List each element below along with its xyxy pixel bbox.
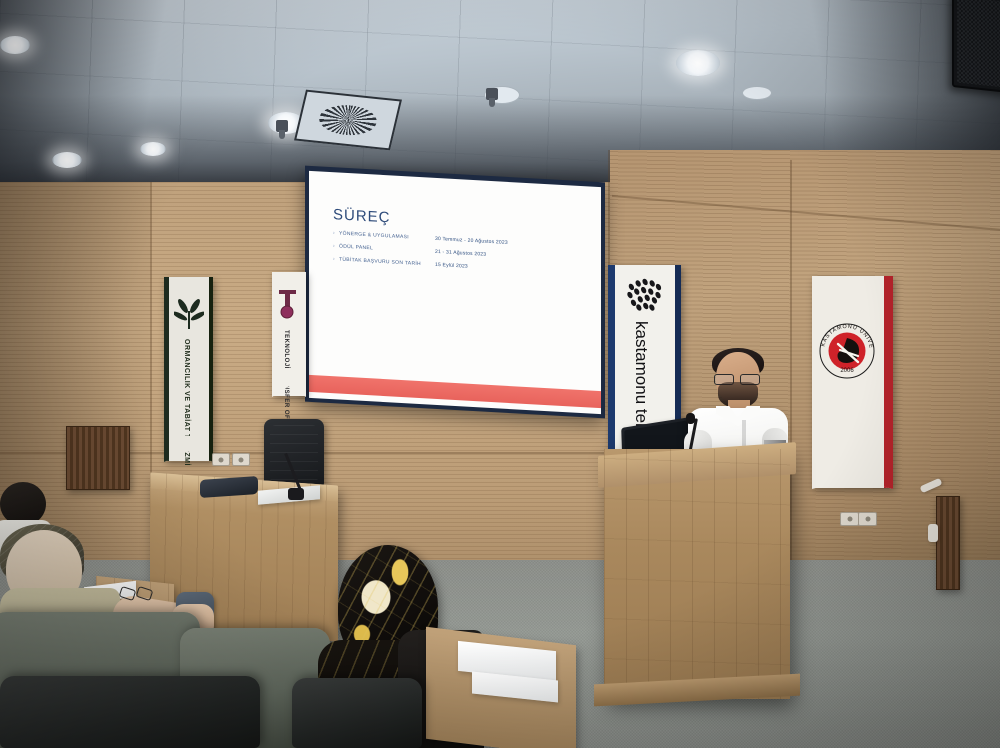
ceiling-loudspeaker: [952, 0, 1000, 93]
audience-chair[interactable]: [292, 678, 422, 748]
wall-radiator: [936, 496, 960, 590]
podium-grain: [604, 449, 790, 699]
tto-icon: [276, 286, 302, 320]
dot-cloud-icon: [623, 276, 667, 315]
slide-row-label: TÜBİTAK BAŞVURU SON TARİH: [339, 257, 435, 268]
ormancilik-banner: ORMANCILIK VE TABİAT TURİZMİ: [164, 277, 213, 461]
slide-surface: SÜREÇ › YÖNERGE & UYGULAMASI 30 Temmuz -…: [309, 171, 601, 414]
slide-row-date: 15 Eylül 2023: [435, 262, 468, 270]
tto-banner: TEKNOLOJİ TRANSFER OFİSİ: [272, 272, 306, 396]
banner-tail: [272, 371, 306, 397]
ceiling-downlight: [0, 36, 30, 54]
ceiling-left-shadow: [0, 0, 190, 188]
banner-tail: [812, 463, 893, 489]
conference-hall-photo: SÜREÇ › YÖNERGE & UYGULAMASI 30 Temmuz -…: [0, 0, 1000, 748]
slide-row-date: 30 Temmuz - 20 Ağustos 2023: [435, 236, 508, 246]
slide-accent-bar: [309, 375, 601, 408]
ceiling-downlight: [676, 50, 720, 76]
wall-radiator: [66, 426, 130, 490]
universite-banner: KASTAMONU ÜNİVERSİTESİ 2006: [812, 276, 893, 488]
wall-pipe: [928, 524, 938, 542]
sprinkler-icon: [486, 88, 498, 100]
projection-screen: SÜREÇ › YÖNERGE & UYGULAMASI 30 Temmuz -…: [305, 166, 605, 419]
wall-socket[interactable]: [212, 453, 230, 466]
slide-rows: › YÖNERGE & UYGULAMASI 30 Temmuz - 20 Ağ…: [333, 230, 591, 283]
wall-socket[interactable]: [840, 512, 859, 526]
slide-row-date: 21 - 31 Ağustos 2023: [435, 249, 486, 258]
sprinkler-icon: [276, 120, 288, 132]
podium: [604, 449, 790, 699]
ceiling-disc: [742, 86, 772, 100]
svg-text:2006: 2006: [840, 368, 854, 374]
wall-socket[interactable]: [858, 512, 877, 526]
audience-chair[interactable]: [0, 676, 260, 748]
microphone-icon: [686, 413, 695, 424]
wall-socket[interactable]: [232, 453, 250, 466]
university-seal-icon: KASTAMONU ÜNİVERSİTESİ 2006: [818, 322, 876, 380]
slide-row-label: ÖDÜL PANEL: [339, 244, 435, 255]
ceiling-vent: [294, 90, 402, 151]
ceiling-downlight: [140, 142, 166, 156]
desk-mic-base: [288, 488, 304, 500]
wall-seam: [790, 160, 792, 620]
slide-title: SÜREÇ: [333, 206, 391, 226]
leaf-icon: [174, 297, 204, 331]
slide-row-label: YÖNERGE & UYGULAMASI: [339, 231, 435, 242]
eyeglasses-icon: [120, 588, 154, 604]
ceiling-downlight: [52, 152, 82, 168]
